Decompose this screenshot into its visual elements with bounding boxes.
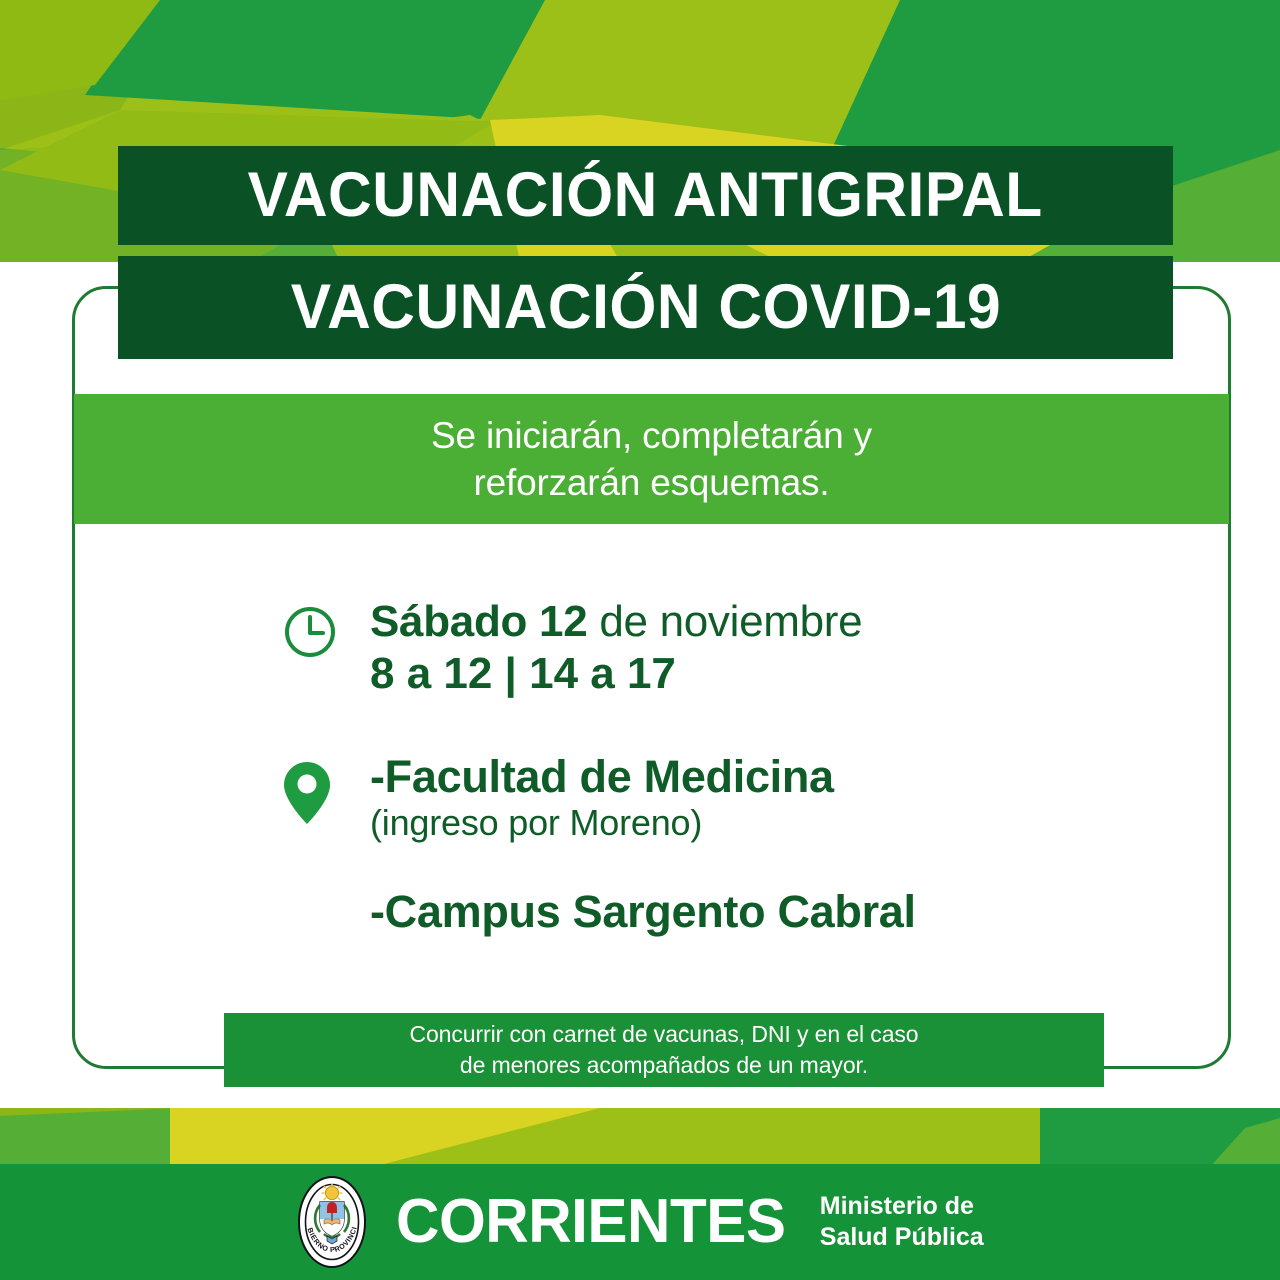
location-text: -Facultad de Medicina (ingreso por Moren… [370,752,1182,937]
footnote-line-2: de menores acompañados de un mayor. [460,1052,868,1078]
title-bar-covid: VACUNACIÓN COVID-19 [118,256,1173,359]
location-place-1: -Facultad de Medicina [370,752,1182,802]
vaccination-poster: VACUNACIÓN ANTIGRIPAL VACUNACIÓN COVID-1… [0,0,1280,1280]
subtitle-text: Se iniciarán, completarán y reforzarán e… [431,412,872,507]
schedule-hours: 8 a 12 | 14 a 17 [370,648,1182,700]
footer-bar: GOBIERNO PROVINCIAL CORRIENTES Ministeri… [0,1164,1280,1280]
title-line-2: VACUNACIÓN COVID-19 [290,276,1000,339]
subtitle-line-1: Se iniciarán, completarán y [431,415,872,456]
subtitle-band: Se iniciarán, completarán y reforzarán e… [74,394,1229,524]
footnote-text: Concurrir con carnet de vacunas, DNI y e… [409,1019,918,1081]
map-pin-icon [282,760,332,826]
brand-corrientes: CORRIENTES [396,1191,785,1253]
footnote-band: Concurrir con carnet de vacunas, DNI y e… [224,1013,1104,1087]
info-block: Sábado 12 de noviembre 8 a 12 | 14 a 17 … [282,596,1182,937]
map-pin-icon-cell [282,752,370,826]
schedule-date-line: Sábado 12 de noviembre [370,596,1182,648]
location-place-1-note: (ingreso por Moreno) [370,801,1182,845]
location-row: -Facultad de Medicina (ingreso por Moren… [282,752,1182,937]
ministry-label: Ministerio de Salud Pública [820,1191,984,1254]
title-line-1: VACUNACIÓN ANTIGRIPAL [248,164,1043,227]
clock-icon [282,604,338,660]
title-bar-antigripal: VACUNACIÓN ANTIGRIPAL [118,146,1173,245]
clock-icon-cell [282,596,370,660]
ministry-line-2: Salud Pública [820,1223,984,1251]
schedule-text: Sábado 12 de noviembre 8 a 12 | 14 a 17 [370,596,1182,700]
location-place-2: -Campus Sargento Cabral [370,887,1182,937]
schedule-day: Sábado 12 [370,597,587,646]
schedule-month: de noviembre [587,597,862,646]
footnote-line-1: Concurrir con carnet de vacunas, DNI y e… [409,1021,918,1047]
ministry-line-1: Ministerio de [820,1192,974,1220]
subtitle-line-2: reforzarán esquemas. [474,462,830,503]
schedule-row: Sábado 12 de noviembre 8 a 12 | 14 a 17 [282,596,1182,700]
corrientes-coat-of-arms-icon: GOBIERNO PROVINCIAL [296,1175,368,1269]
